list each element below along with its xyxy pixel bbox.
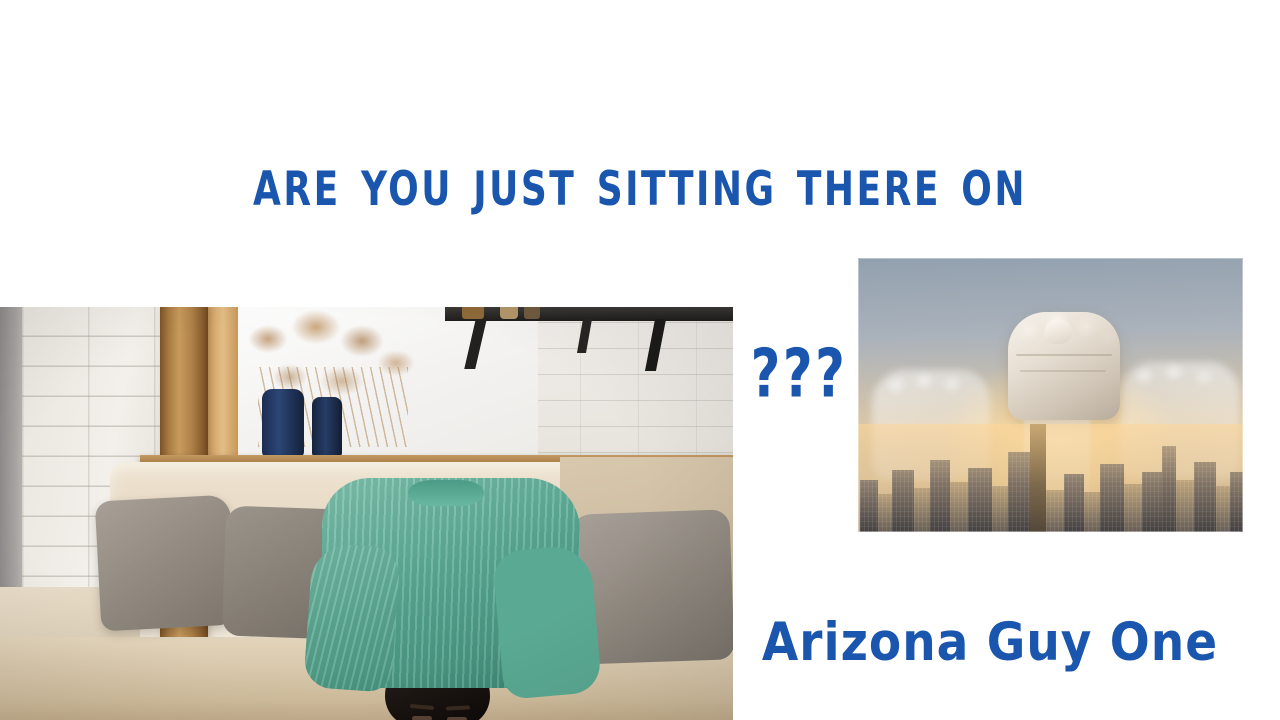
skyline-building	[860, 480, 878, 532]
skyline-building	[1194, 462, 1216, 532]
skyline-building	[1176, 480, 1194, 532]
fist-city-photo	[858, 258, 1243, 532]
couch-photo-vignette	[0, 307, 733, 720]
skyline-building	[914, 488, 930, 532]
skyline-building	[992, 486, 1008, 532]
skyline-building	[1162, 446, 1176, 532]
skyline-building	[1064, 474, 1084, 532]
skyline-building	[930, 460, 950, 532]
ghost-fist-right-knuckles	[1126, 362, 1230, 394]
skyline-building	[892, 470, 914, 532]
fist-crease-2	[1020, 370, 1106, 372]
skyline-building	[1100, 464, 1124, 532]
signature-text: Arizona Guy One	[760, 612, 1220, 674]
fist-crease-1	[1016, 354, 1112, 356]
skyline-building	[878, 494, 892, 532]
skyline-building	[1142, 472, 1162, 532]
skyline-tall-tower	[1030, 424, 1046, 532]
headline-line-1: Are you just sitting there on	[0, 136, 1280, 232]
couch-photo	[0, 307, 733, 720]
skyline-building	[950, 482, 968, 532]
skyline-building	[1084, 492, 1100, 532]
skyline-building	[1230, 472, 1243, 532]
slide-canvas: Are you just sitting there on your couch…	[0, 0, 1280, 720]
city-skyline	[858, 424, 1243, 532]
skyline-building	[1008, 452, 1030, 532]
skyline-building	[1046, 490, 1064, 532]
main-fist-thumb	[1044, 320, 1072, 344]
skyline-building	[968, 468, 992, 532]
ghost-fist-left-knuckles	[880, 370, 980, 400]
skyline-building	[1124, 484, 1142, 532]
